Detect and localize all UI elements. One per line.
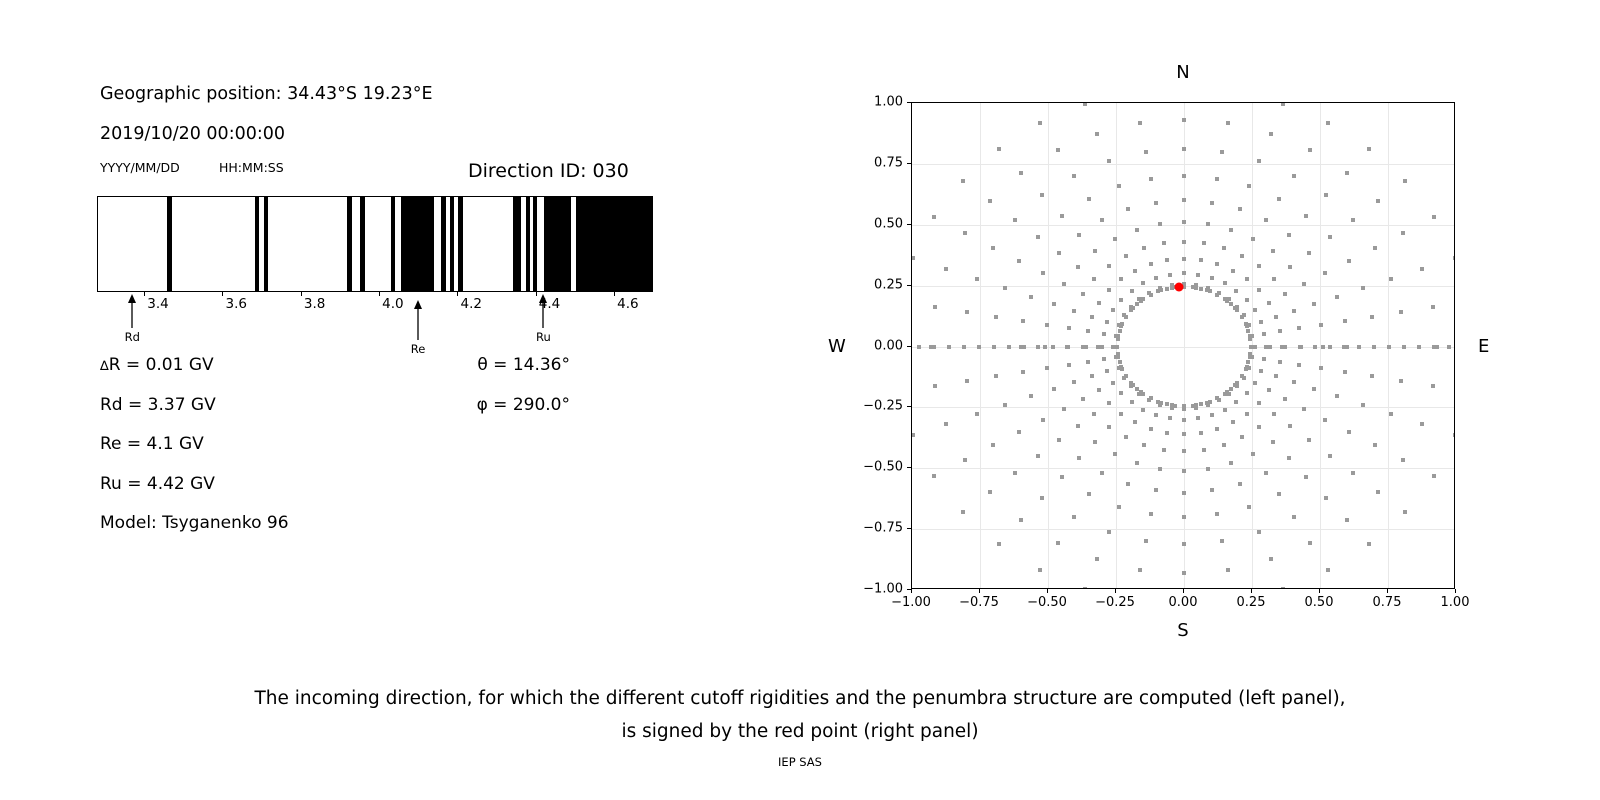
direction-dot bbox=[1056, 148, 1060, 152]
direction-dot bbox=[1066, 345, 1070, 349]
axis-tick-mark bbox=[379, 292, 380, 296]
direction-dot bbox=[1077, 233, 1081, 237]
direction-dot bbox=[1292, 309, 1296, 313]
direction-dot bbox=[1257, 264, 1261, 268]
direction-dot bbox=[961, 179, 965, 183]
direction-dot bbox=[1107, 264, 1111, 268]
direction-dot bbox=[1246, 329, 1250, 333]
direction-dot bbox=[1105, 320, 1109, 324]
direction-dot bbox=[1288, 265, 1292, 269]
direction-dot bbox=[1083, 102, 1087, 106]
direction-dot bbox=[991, 246, 995, 250]
direction-dot bbox=[1234, 400, 1238, 404]
direction-dot bbox=[1081, 345, 1085, 349]
x-axis-tick-mark bbox=[1387, 589, 1388, 593]
direction-dot bbox=[1019, 518, 1023, 522]
direction-dot bbox=[991, 443, 995, 447]
direction-dot bbox=[1277, 492, 1281, 496]
direction-dot bbox=[994, 374, 998, 378]
direction-dot bbox=[1274, 315, 1278, 319]
direction-dot bbox=[1215, 427, 1219, 431]
axis-tick-label: 4.6 bbox=[617, 296, 638, 312]
direction-dot bbox=[1119, 412, 1123, 416]
direction-dot bbox=[1432, 474, 1436, 478]
direction-dot bbox=[1343, 319, 1347, 323]
direction-dot bbox=[1113, 452, 1117, 456]
y-axis-tick-mark bbox=[907, 102, 911, 103]
direction-dot bbox=[1147, 398, 1151, 402]
direction-dot bbox=[1432, 215, 1436, 219]
param-phi: φ = 290.0° bbox=[477, 395, 570, 415]
direction-dot bbox=[1304, 214, 1308, 218]
direction-dot bbox=[1267, 388, 1271, 392]
direction-dot bbox=[1126, 482, 1130, 486]
datetime-text: 2019/10/20 00:00:00 bbox=[100, 124, 285, 144]
direction-dot bbox=[1313, 345, 1317, 349]
y-axis-tick-mark bbox=[907, 163, 911, 164]
direction-dot bbox=[1083, 587, 1087, 589]
direction-dot bbox=[1250, 355, 1254, 359]
direction-dot bbox=[1324, 193, 1328, 197]
direction-dot bbox=[944, 422, 948, 426]
direction-dot bbox=[1107, 159, 1111, 163]
direction-dot bbox=[1372, 345, 1376, 349]
x-axis-tick-label: −0.50 bbox=[1027, 595, 1067, 610]
direction-dot bbox=[1326, 568, 1330, 572]
direction-dot bbox=[1222, 246, 1226, 250]
direction-dot bbox=[1130, 289, 1134, 293]
direction-dot bbox=[1102, 357, 1106, 361]
polar-scatter-plot bbox=[911, 102, 1455, 589]
direction-dot bbox=[1165, 287, 1169, 291]
direction-dot bbox=[1158, 403, 1162, 407]
direction-dot bbox=[1036, 235, 1040, 239]
parameter-list: ∆R = 0.01 GV θ = 14.36° Rd = 3.37 GV φ =… bbox=[100, 355, 670, 553]
direction-dot bbox=[1100, 471, 1104, 475]
direction-dot bbox=[947, 345, 951, 349]
direction-dot bbox=[1199, 287, 1203, 291]
direction-dot bbox=[1292, 174, 1296, 178]
direction-dot bbox=[1245, 412, 1249, 416]
direction-dot bbox=[1287, 456, 1291, 460]
direction-dot bbox=[992, 345, 996, 349]
direction-dot bbox=[1432, 345, 1436, 349]
direction-dot bbox=[1226, 568, 1230, 572]
direction-dot bbox=[965, 310, 969, 314]
direction-dot bbox=[1057, 251, 1061, 255]
direction-dot bbox=[1182, 147, 1186, 151]
direction-dot bbox=[1319, 323, 1323, 327]
direction-dot bbox=[1253, 345, 1257, 349]
direction-dot bbox=[1328, 345, 1332, 349]
direction-dot bbox=[1399, 310, 1403, 314]
direction-dot bbox=[997, 542, 1001, 546]
direction-dot bbox=[1182, 491, 1186, 495]
direction-dot bbox=[1242, 313, 1246, 317]
direction-dot bbox=[1267, 301, 1271, 305]
direction-dot bbox=[1013, 218, 1017, 222]
direction-dot bbox=[1215, 512, 1219, 516]
direction-dot bbox=[1077, 456, 1081, 460]
direction-dot bbox=[1342, 345, 1346, 349]
penumbra-band bbox=[544, 197, 571, 291]
direction-dot bbox=[1097, 388, 1101, 392]
direction-dot bbox=[1281, 102, 1285, 106]
direction-dot bbox=[1262, 357, 1266, 361]
direction-dot bbox=[1162, 241, 1166, 245]
direction-dot bbox=[1220, 539, 1224, 543]
direction-dot bbox=[1129, 305, 1133, 309]
y-axis-tick-label: 0.75 bbox=[874, 155, 903, 170]
param-rd: Rd = 3.37 GV bbox=[100, 395, 216, 415]
direction-dot bbox=[963, 231, 967, 235]
direction-dot bbox=[1158, 222, 1162, 226]
direction-dot bbox=[1199, 402, 1203, 406]
direction-dot bbox=[1090, 315, 1094, 319]
caption-line-1: The incoming direction, for which the di… bbox=[0, 682, 1600, 715]
marker-arrow-rd bbox=[125, 294, 139, 328]
gridline-horizontal bbox=[912, 529, 1454, 530]
penumbra-band bbox=[360, 197, 365, 291]
direction-dot bbox=[1135, 461, 1139, 465]
direction-dot bbox=[1142, 443, 1146, 447]
direction-dot bbox=[1029, 394, 1033, 398]
direction-dot bbox=[1226, 121, 1230, 125]
direction-dot bbox=[1323, 418, 1327, 422]
direction-dot bbox=[1257, 401, 1261, 405]
direction-dot bbox=[1231, 269, 1235, 273]
direction-dot bbox=[1242, 376, 1246, 380]
penumbra-band bbox=[513, 197, 521, 291]
direction-dot bbox=[1253, 381, 1257, 385]
direction-dot bbox=[1403, 510, 1407, 514]
direction-dot bbox=[1223, 281, 1227, 285]
direction-dot bbox=[1231, 420, 1235, 424]
direction-dot bbox=[1182, 469, 1186, 473]
direction-dot bbox=[1043, 345, 1047, 349]
direction-dot bbox=[1107, 288, 1111, 292]
direction-dot bbox=[1292, 380, 1296, 384]
direction-dot bbox=[988, 199, 992, 203]
footer-text: IEP SAS bbox=[0, 755, 1600, 769]
param-row-ru: Ru = 4.42 GV bbox=[100, 474, 670, 514]
direction-dot bbox=[1307, 251, 1311, 255]
direction-dot bbox=[1147, 291, 1151, 295]
axis-tick-label: 3.4 bbox=[147, 296, 168, 312]
penumbra-bar bbox=[97, 196, 653, 292]
direction-dot bbox=[1351, 471, 1355, 475]
direction-dot bbox=[1227, 392, 1231, 396]
direction-dot bbox=[1041, 418, 1045, 422]
direction-dot bbox=[1182, 240, 1186, 244]
direction-dot bbox=[1223, 408, 1227, 412]
direction-dot bbox=[1062, 282, 1066, 286]
x-axis-tick-mark bbox=[1183, 589, 1184, 593]
compass-label-east: E bbox=[1478, 336, 1489, 357]
direction-dot bbox=[1040, 496, 1044, 500]
direction-dot bbox=[1247, 366, 1251, 370]
axis-tick-mark bbox=[144, 292, 145, 296]
direction-dot bbox=[1007, 345, 1011, 349]
y-axis-tick-label: 0.00 bbox=[874, 338, 903, 353]
direction-dot bbox=[962, 345, 966, 349]
direction-dot bbox=[1052, 302, 1056, 306]
direction-dot bbox=[1114, 355, 1118, 359]
direction-dot bbox=[932, 345, 936, 349]
direction-dot bbox=[1182, 257, 1186, 261]
penumbra-band bbox=[450, 197, 454, 291]
direction-dot bbox=[1321, 345, 1325, 349]
direction-dot bbox=[1182, 542, 1186, 546]
compass-label-south: S bbox=[1177, 620, 1188, 641]
compass-label-north: N bbox=[1176, 62, 1189, 83]
penumbra-band bbox=[533, 197, 536, 291]
y-axis-tick-mark bbox=[907, 285, 911, 286]
direction-dot bbox=[1345, 518, 1349, 522]
direction-dot bbox=[1117, 366, 1121, 370]
direction-dot bbox=[1326, 121, 1330, 125]
direction-dot bbox=[1138, 121, 1142, 125]
direction-dot bbox=[1206, 403, 1210, 407]
direction-dot bbox=[977, 345, 981, 349]
direction-dot bbox=[1217, 291, 1221, 295]
direction-dot bbox=[1056, 541, 1060, 545]
penumbra-band bbox=[576, 197, 653, 291]
direction-dot bbox=[1051, 345, 1055, 349]
direction-dot bbox=[1399, 379, 1403, 383]
direction-dot bbox=[1347, 430, 1351, 434]
direction-dot bbox=[1402, 345, 1406, 349]
direction-dot bbox=[917, 345, 921, 349]
direction-dot bbox=[1297, 363, 1301, 367]
axis-tick-mark bbox=[614, 292, 615, 296]
axis-tick-label: 3.6 bbox=[226, 296, 247, 312]
direction-dot bbox=[997, 147, 1001, 151]
direction-dot bbox=[994, 315, 998, 319]
direction-dot bbox=[1215, 262, 1219, 266]
direction-dot bbox=[1272, 277, 1276, 281]
direction-dot bbox=[1264, 218, 1268, 222]
direction-dot bbox=[1122, 313, 1126, 317]
direction-dot bbox=[1319, 366, 1323, 370]
direction-dot bbox=[1067, 326, 1071, 330]
x-axis-tick-mark bbox=[1047, 589, 1048, 593]
direction-dot bbox=[1021, 319, 1025, 323]
direction-dot bbox=[1067, 363, 1071, 367]
direction-dot bbox=[1335, 394, 1339, 398]
direction-dot bbox=[1222, 443, 1226, 447]
direction-dot bbox=[1220, 150, 1224, 154]
direction-dot bbox=[1259, 320, 1263, 324]
direction-dot bbox=[1165, 258, 1169, 262]
direction-dot bbox=[1417, 345, 1421, 349]
direction-dot bbox=[1135, 302, 1139, 306]
direction-dot bbox=[1431, 305, 1435, 309]
direction-dot bbox=[1154, 276, 1158, 280]
direction-dot bbox=[1196, 273, 1200, 277]
direction-dot bbox=[961, 510, 965, 514]
direction-dot bbox=[1199, 258, 1203, 262]
direction-dot bbox=[1036, 345, 1040, 349]
direction-dot bbox=[1135, 228, 1139, 232]
direction-dot bbox=[932, 215, 936, 219]
direction-dot bbox=[1217, 398, 1221, 402]
axis-tick-label: 4.0 bbox=[382, 296, 403, 312]
direction-dot bbox=[1045, 323, 1049, 327]
direction-dot bbox=[1245, 298, 1249, 302]
direction-dot bbox=[1264, 471, 1268, 475]
direction-dot bbox=[1111, 381, 1115, 385]
direction-dot bbox=[1182, 118, 1186, 122]
direction-dot bbox=[944, 267, 948, 271]
direction-dot bbox=[1003, 403, 1007, 407]
direction-dot bbox=[1144, 150, 1148, 154]
direction-dot bbox=[1278, 360, 1282, 364]
direction-dot bbox=[1149, 512, 1153, 516]
direction-dot bbox=[975, 412, 979, 416]
direction-dot bbox=[1283, 397, 1287, 401]
direction-dot bbox=[1343, 370, 1347, 374]
direction-dot bbox=[1238, 207, 1242, 211]
direction-dot bbox=[1036, 454, 1040, 458]
direction-dot bbox=[1240, 435, 1244, 439]
figure-caption: The incoming direction, for which the di… bbox=[0, 682, 1600, 748]
direction-dot bbox=[1420, 267, 1424, 271]
direction-dot bbox=[1283, 292, 1287, 296]
direction-dot bbox=[1271, 249, 1275, 253]
direction-dot bbox=[1137, 392, 1141, 396]
x-axis-tick-mark bbox=[911, 589, 912, 593]
direction-dot bbox=[1162, 448, 1166, 452]
direction-dot bbox=[1247, 323, 1251, 327]
direction-dot bbox=[1247, 184, 1251, 188]
direction-dot bbox=[1250, 334, 1254, 338]
direction-dot bbox=[1182, 571, 1186, 575]
direction-dot bbox=[1141, 281, 1145, 285]
direction-dot bbox=[1302, 282, 1306, 286]
y-axis-tick-label: 0.25 bbox=[874, 277, 903, 292]
direction-dot bbox=[1277, 197, 1281, 201]
param-ru: Ru = 4.42 GV bbox=[100, 474, 215, 494]
direction-dot bbox=[1168, 416, 1172, 420]
penumbra-band bbox=[255, 197, 259, 291]
direction-dot bbox=[1076, 265, 1080, 269]
direction-dot bbox=[1158, 467, 1162, 471]
direction-dot bbox=[932, 474, 936, 478]
direction-dot bbox=[1182, 271, 1186, 275]
direction-dot bbox=[1096, 345, 1100, 349]
penumbra-band bbox=[264, 197, 268, 291]
direction-dot bbox=[1283, 345, 1287, 349]
direction-dot bbox=[1119, 391, 1123, 395]
direction-dot bbox=[933, 305, 937, 309]
direction-dot bbox=[1292, 515, 1296, 519]
direction-dot bbox=[1257, 530, 1261, 534]
axis-tick-label: 4.4 bbox=[539, 296, 560, 312]
direction-dot bbox=[1168, 273, 1172, 277]
direction-dot bbox=[1144, 539, 1148, 543]
y-axis-tick-mark bbox=[907, 346, 911, 347]
x-axis-tick-label: −1.00 bbox=[891, 595, 931, 610]
x-axis-tick-label: −0.25 bbox=[1095, 595, 1135, 610]
direction-dot bbox=[1119, 298, 1123, 302]
gridline-horizontal bbox=[912, 164, 1454, 165]
marker-label-rd: Rd bbox=[125, 330, 140, 344]
direction-dot bbox=[911, 433, 915, 437]
axis-tick-label: 4.2 bbox=[460, 296, 481, 312]
direction-dot bbox=[1245, 391, 1249, 395]
direction-dot bbox=[1092, 277, 1096, 281]
axis-tick-mark bbox=[457, 292, 458, 296]
direction-dot bbox=[1072, 515, 1076, 519]
direction-dot bbox=[1401, 231, 1405, 235]
direction-dot bbox=[1117, 323, 1121, 327]
direction-dot bbox=[1194, 283, 1198, 287]
direction-dot bbox=[1229, 228, 1233, 232]
direction-dot bbox=[1182, 198, 1186, 202]
direction-dot bbox=[1271, 440, 1275, 444]
direction-dot bbox=[1170, 406, 1174, 410]
direction-dot bbox=[1308, 148, 1312, 152]
direction-dot bbox=[1013, 471, 1017, 475]
direction-dot bbox=[1029, 295, 1033, 299]
y-axis-tick-mark bbox=[907, 224, 911, 225]
direction-dot bbox=[1234, 289, 1238, 293]
x-axis-tick-label: 0.50 bbox=[1305, 595, 1334, 610]
direction-dot bbox=[1119, 277, 1123, 281]
direction-dot bbox=[1126, 207, 1130, 211]
direction-dot bbox=[1092, 412, 1096, 416]
geographic-position-text: Geographic position: 34.43°S 19.23°E bbox=[100, 84, 433, 104]
direction-dot bbox=[1165, 402, 1169, 406]
y-axis-tick-label: −0.50 bbox=[863, 460, 903, 475]
direction-dot bbox=[1086, 360, 1090, 364]
direction-dot bbox=[1389, 412, 1393, 416]
penumbra-band bbox=[391, 197, 395, 291]
direction-dot bbox=[1403, 179, 1407, 183]
direction-dot bbox=[1251, 452, 1255, 456]
y-axis-tick-label: 0.50 bbox=[874, 216, 903, 231]
penumbra-rigidity-axis: 3.43.63.84.04.24.44.6RdReRu bbox=[97, 292, 653, 352]
axis-tick-label: 3.8 bbox=[304, 296, 325, 312]
direction-dot bbox=[1229, 461, 1233, 465]
direction-dot bbox=[1376, 199, 1380, 203]
axis-tick-mark bbox=[536, 292, 537, 296]
direction-dot bbox=[1114, 334, 1118, 338]
x-axis-tick-label: 0.25 bbox=[1237, 595, 1266, 610]
penumbra-band bbox=[401, 197, 433, 291]
param-row-rd: Rd = 3.37 GV φ = 290.0° bbox=[100, 395, 670, 435]
param-row-re: Re = 4.1 GV bbox=[100, 434, 670, 474]
x-axis-tick-label: −0.75 bbox=[959, 595, 999, 610]
y-axis-tick-label: 1.00 bbox=[874, 95, 903, 110]
x-axis-tick-mark bbox=[1455, 589, 1456, 593]
direction-dot bbox=[1095, 557, 1099, 561]
y-axis-tick-mark bbox=[907, 528, 911, 529]
direction-dot bbox=[1019, 171, 1023, 175]
direction-dot bbox=[1210, 413, 1214, 417]
date-format-hint: YYYY/MM/DD bbox=[100, 160, 180, 175]
param-re: Re = 4.1 GV bbox=[100, 434, 204, 454]
direction-dot bbox=[1259, 369, 1263, 373]
direction-dot bbox=[1154, 413, 1158, 417]
direction-dot bbox=[1117, 184, 1121, 188]
direction-dot bbox=[1052, 387, 1056, 391]
direction-dot bbox=[1137, 297, 1141, 301]
y-axis-tick-mark bbox=[907, 467, 911, 468]
direction-dot bbox=[1087, 492, 1091, 496]
direction-dot bbox=[1196, 416, 1200, 420]
